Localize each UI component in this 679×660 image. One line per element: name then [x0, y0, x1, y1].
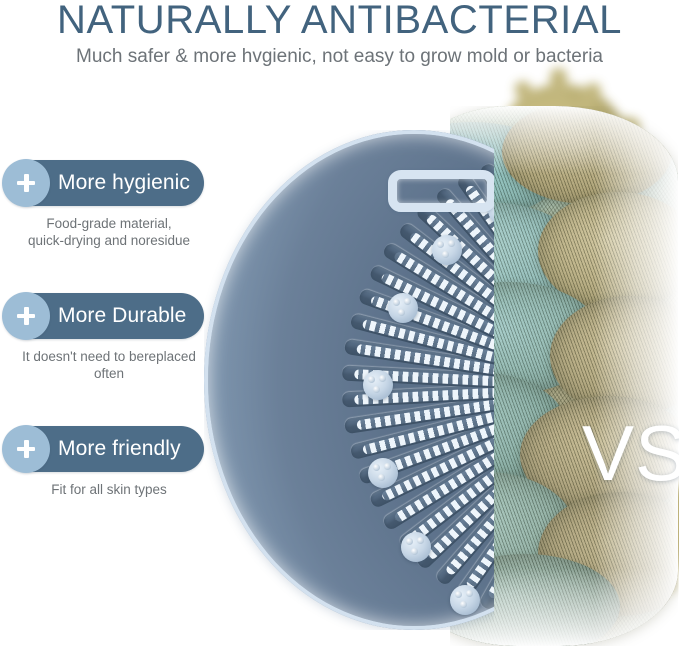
plus-icon	[2, 292, 50, 340]
silicone-nub	[401, 532, 431, 562]
plus-icon	[2, 425, 50, 473]
product-comparison-image: VS	[196, 92, 679, 660]
feature-list: More hygienic Food-grade material, quick…	[0, 160, 218, 514]
silicone-nub	[450, 585, 480, 615]
silicone-nub	[432, 235, 462, 265]
plus-icon	[2, 159, 50, 207]
caption-line: often	[0, 365, 218, 382]
feature-caption: Fit for all skin types	[0, 481, 218, 498]
silicone-nub	[368, 458, 398, 488]
feature-badge-label: More friendly	[58, 437, 181, 461]
header: NATURALLY ANTIBACTERIAL Much safer & mor…	[0, 0, 679, 78]
feature-item: More friendly Fit for all skin types	[0, 426, 218, 498]
infographic-page: NATURALLY ANTIBACTERIAL Much safer & mor…	[0, 0, 679, 660]
page-subtitle: Much safer & more hvgienic, not easy to …	[0, 45, 679, 69]
feature-badge-more-durable[interactable]: More Durable	[4, 293, 204, 339]
caption-line: It doesn't need to bereplaced	[0, 348, 218, 365]
silicone-nub	[363, 370, 393, 400]
feature-item: More Durable It doesn't need to bereplac…	[0, 293, 218, 382]
caption-line: Food-grade material,	[0, 215, 218, 232]
feature-badge-label: More hygienic	[58, 171, 190, 195]
feature-badge-more-hygienic[interactable]: More hygienic	[4, 160, 204, 206]
feature-badge-label: More Durable	[58, 304, 186, 328]
caption-line: Fit for all skin types	[0, 481, 218, 498]
page-title: NATURALLY ANTIBACTERIAL	[0, 0, 679, 42]
caption-line: quick-drying and noresidue	[0, 232, 218, 249]
silicone-hanging-loop	[388, 170, 494, 212]
feature-caption: Food-grade material, quick-drying and no…	[0, 215, 218, 249]
feature-badge-more-friendly[interactable]: More friendly	[4, 426, 204, 472]
feature-caption: It doesn't need to bereplaced often	[0, 348, 218, 382]
vs-label: VS	[582, 414, 679, 492]
silicone-scrubber	[204, 130, 494, 630]
feature-item: More hygienic Food-grade material, quick…	[0, 160, 218, 249]
